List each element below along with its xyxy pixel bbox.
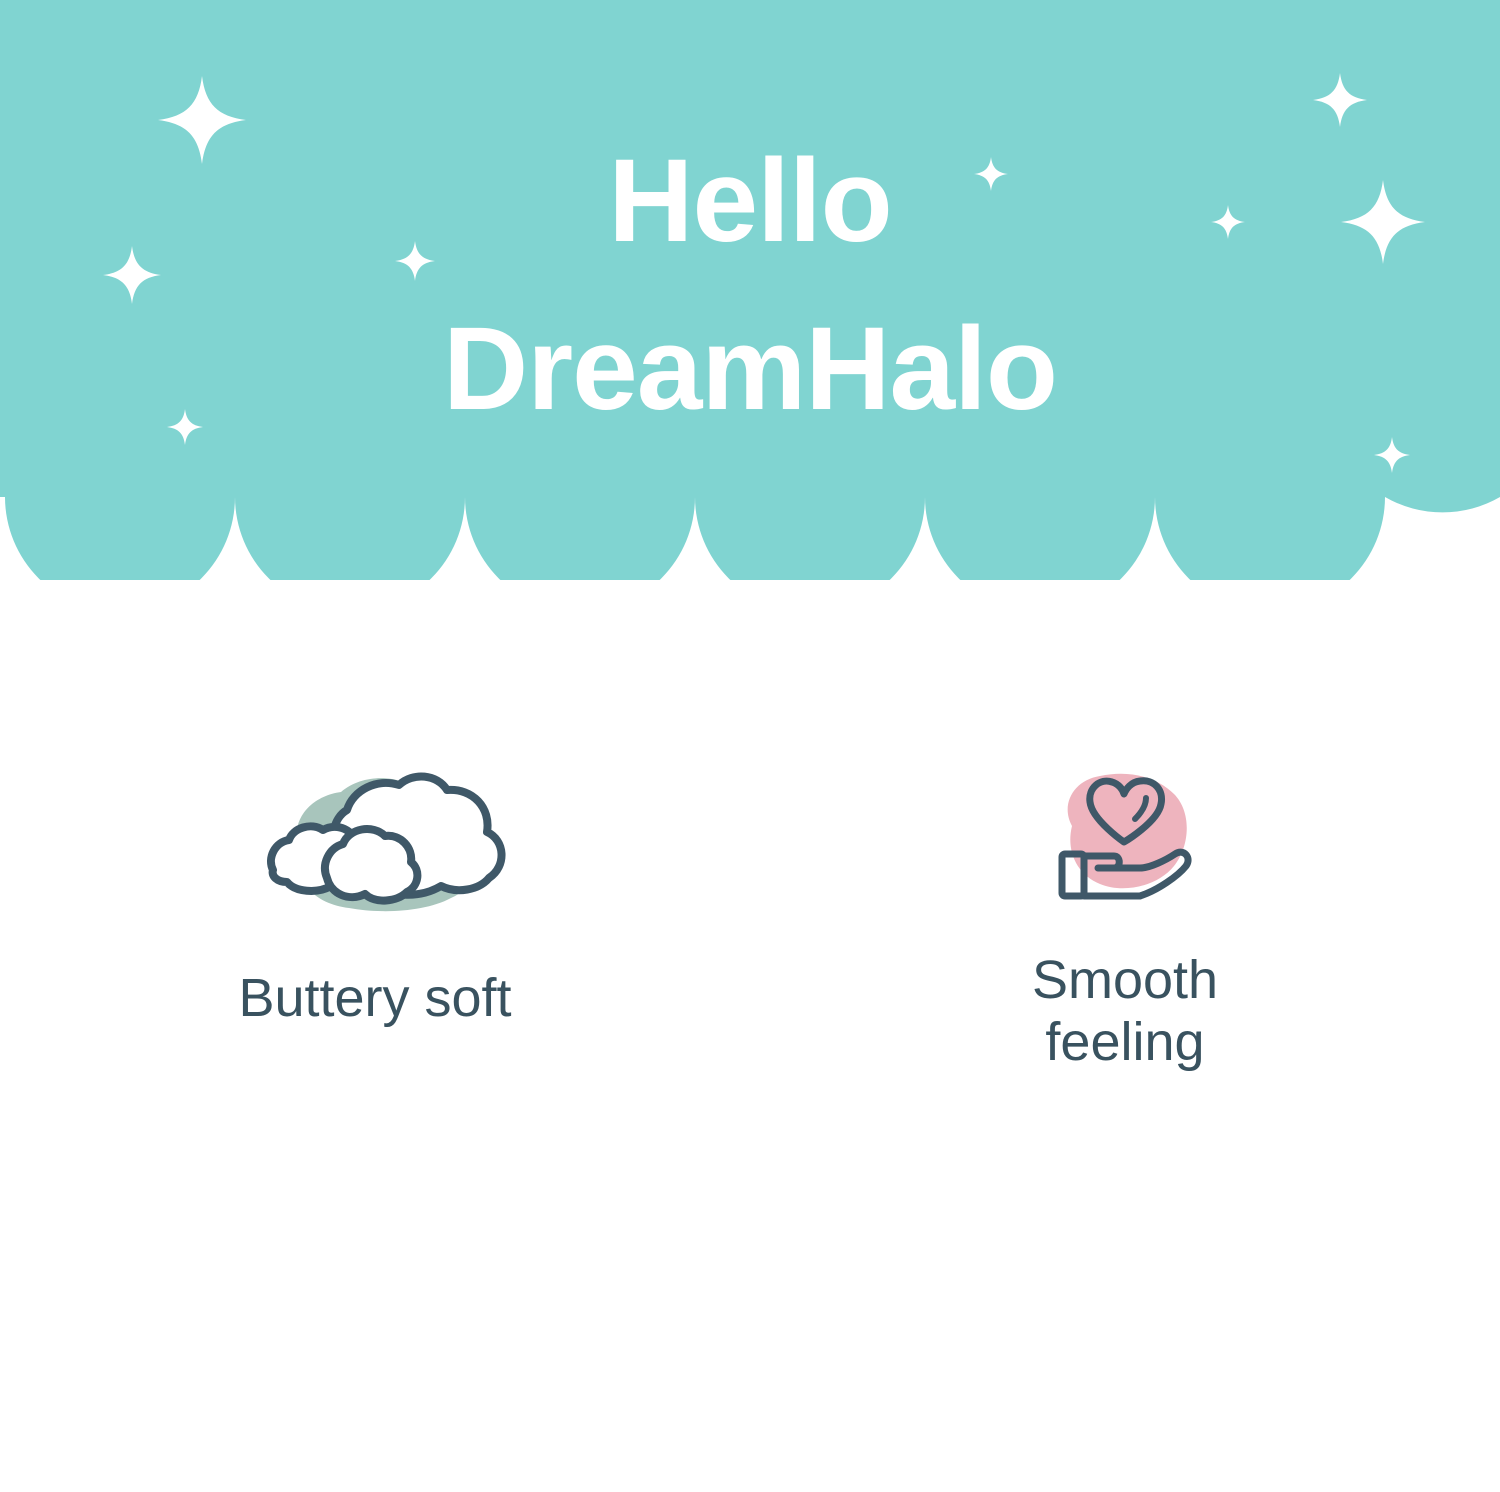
header-banner: Hello DreamHalo — [0, 0, 1500, 580]
feature-smooth-feeling: Smooth feeling — [750, 620, 1500, 1073]
hand-heart-icon — [1028, 760, 1218, 910]
feature-buttery-soft: Buttery soft — [0, 620, 750, 1073]
infographic-canvas: Hello DreamHalo Buttery soft — [0, 0, 1500, 1492]
feature-label: Buttery soft — [238, 968, 511, 1030]
cloud-icon — [229, 758, 529, 928]
hand-heart-icon-wrapper — [1028, 760, 1218, 910]
feature-label: Smooth feeling — [1032, 950, 1218, 1073]
cloud-icon-wrapper — [229, 758, 529, 928]
feature-seasonless: Seasonless — [750, 1073, 1500, 1492]
feature-stretches-to-fit-longer: Stretches to fit longer — [0, 1073, 750, 1492]
feature-grid: Buttery soft Smooth feeling — [0, 620, 1500, 1492]
header-background-shape — [0, 0, 1500, 580]
